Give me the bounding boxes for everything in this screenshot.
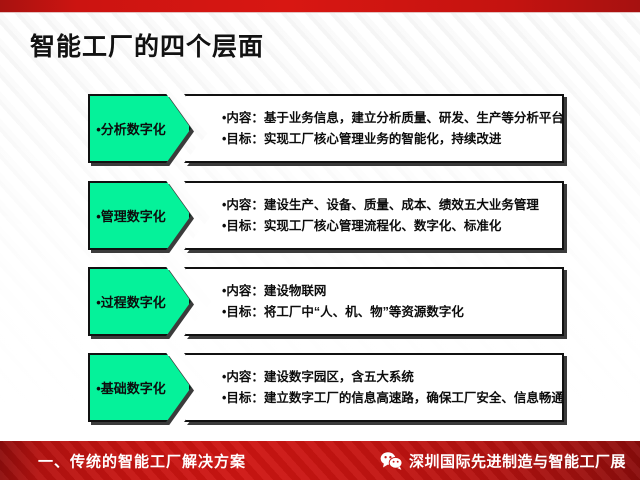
stage-detail-lines: •内容：建设生产、设备、质量、成本、绩效五大业务管理 •目标：实现工厂核心管理流… [222,181,558,250]
stage-row: •过程数字化 •内容：建设物联网 •目标：将工厂中“人、机、物”等资源数字化 [88,267,564,336]
detail-line-content: •内容：建设生产、设备、质量、成本、绩效五大业务管理 [222,198,558,212]
detail-line-goal: •目标：实现工厂核心管理流程化、数字化、标准化 [222,219,558,233]
stage-detail-lines: •内容：基于业务信息，建立分析质量、研发、生产等分析平台 •目标：实现工厂核心管… [222,94,558,163]
stage-detail-lines: •内容：建设物联网 •目标：将工厂中“人、机、物”等资源数字化 [222,267,558,336]
stage-label: •基础数字化 [88,353,174,422]
footer-brand-text: 深圳国际先进制造与智能工厂展 [409,450,626,471]
detail-line-content: •内容：建设物联网 [222,284,558,298]
stage-detail-box[interactable]: •内容：建设生产、设备、质量、成本、绩效五大业务管理 •目标：实现工厂核心管理流… [184,181,564,250]
stage-label: •过程数字化 [88,267,174,336]
stage-chevron-foundation[interactable]: •基础数字化 [88,353,191,422]
detail-line-content: •内容：建设数字园区，含五大系统 [222,370,558,384]
slide-canvas: 智能工厂的四个层面 •分析数字化 •内容：基于业务信息，建立分析质量、研发、生产… [0,0,640,480]
stage-label: •分析数字化 [88,94,174,163]
footer-section-label: 一、传统的智能工厂解决方案 [38,450,246,471]
stage-detail-box[interactable]: •内容：建设数字园区，含五大系统 •目标：建立数字工厂的信息高速路，确保工厂安全… [184,353,564,422]
stage-row: •基础数字化 •内容：建设数字园区，含五大系统 •目标：建立数字工厂的信息高速路… [88,353,564,422]
stage-label: •管理数字化 [88,181,174,250]
stage-list: •分析数字化 •内容：基于业务信息，建立分析质量、研发、生产等分析平台 •目标：… [0,0,640,441]
wechat-icon [380,451,403,470]
detail-line-goal: •目标：将工厂中“人、机、物”等资源数字化 [222,305,558,319]
stage-chevron-management[interactable]: •管理数字化 [88,181,191,250]
footer-bar: 一、传统的智能工厂解决方案 深圳国际先进制造与智能工厂展 [0,441,640,480]
stage-detail-box[interactable]: •内容：建设物联网 •目标：将工厂中“人、机、物”等资源数字化 [184,267,564,336]
stage-chevron-process[interactable]: •过程数字化 [88,267,191,336]
stage-row: •管理数字化 •内容：建设生产、设备、质量、成本、绩效五大业务管理 •目标：实现… [88,181,564,250]
stage-detail-lines: •内容：建设数字园区，含五大系统 •目标：建立数字工厂的信息高速路，确保工厂安全… [222,353,558,422]
detail-line-goal: •目标：建立数字工厂的信息高速路，确保工厂安全、信息畅通 [222,391,558,405]
footer-brand: 深圳国际先进制造与智能工厂展 [380,450,626,471]
stage-detail-box[interactable]: •内容：基于业务信息，建立分析质量、研发、生产等分析平台 •目标：实现工厂核心管… [184,94,564,163]
stage-chevron-analysis[interactable]: •分析数字化 [88,94,191,163]
detail-line-goal: •目标：实现工厂核心管理业务的智能化，持续改进 [222,132,558,146]
stage-row: •分析数字化 •内容：基于业务信息，建立分析质量、研发、生产等分析平台 •目标：… [88,94,564,163]
detail-line-content: •内容：基于业务信息，建立分析质量、研发、生产等分析平台 [222,111,558,125]
